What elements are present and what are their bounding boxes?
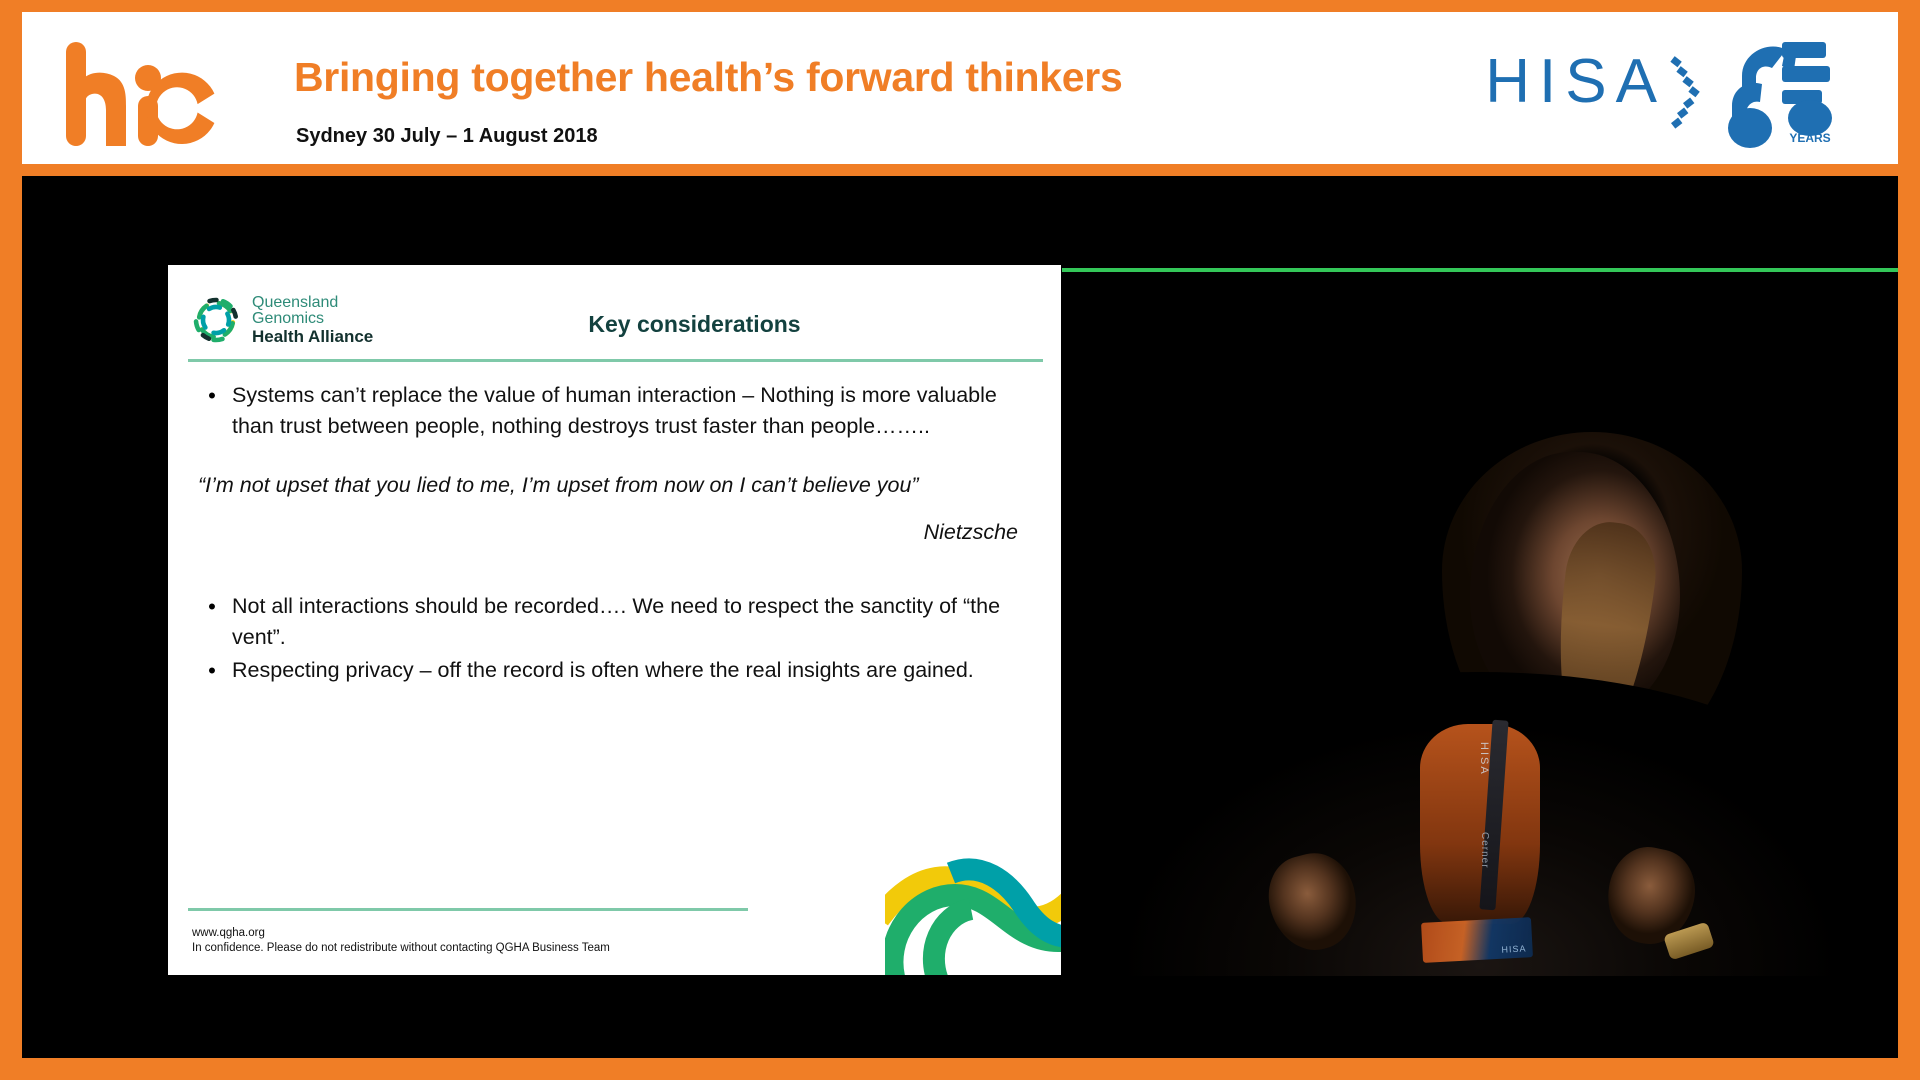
interlocking-ribbons-decoration	[885, 833, 1061, 975]
stage-area: Queensland Genomics Health Alliance Key …	[22, 176, 1898, 1058]
quote-attribution: Nietzsche	[192, 520, 1032, 545]
bullet-glyph: •	[192, 655, 232, 686]
bullet-item: • Respecting privacy – off the record is…	[192, 655, 1032, 686]
chevron-right-dotted-icon	[1668, 56, 1708, 134]
bullet-text: Systems can’t replace the value of human…	[232, 380, 1032, 442]
badge-text: HISA	[1501, 943, 1527, 954]
lanyard-brand-text: HISA	[1478, 742, 1490, 776]
footer-url: www.qgha.org	[192, 926, 610, 942]
slide-divider-bottom	[188, 908, 748, 911]
hisa-wordmark: HISA	[1485, 46, 1666, 117]
bullet-glyph: •	[192, 591, 232, 622]
hic-logo-icon	[60, 34, 235, 154]
qgha-line-1: Queensland	[252, 295, 373, 311]
bullet-item: • Systems can’t replace the value of hum…	[192, 380, 1032, 442]
quote-text: “I’m not upset that you lied to me, I’m …	[192, 470, 1032, 501]
presentation-screen: Bringing together health’s forward think…	[0, 0, 1920, 1080]
bullet-item: • Not all interactions should be recorde…	[192, 591, 1032, 653]
slide-body: • Systems can’t replace the value of hum…	[192, 380, 1032, 688]
video-frame: HISA Cerner HISA	[1062, 272, 1898, 976]
banner-title: Bringing together health’s forward think…	[294, 54, 1122, 101]
lanyard-sponsor-text: Cerner	[1479, 832, 1490, 869]
speaker-badge: HISA	[1421, 917, 1533, 963]
bullet-text: Respecting privacy – off the record is o…	[232, 655, 1032, 686]
banner-subtitle: Sydney 30 July – 1 August 2018	[296, 125, 598, 148]
footer-notice: In confidence. Please do not redistribut…	[192, 941, 610, 957]
presentation-slide: Queensland Genomics Health Alliance Key …	[168, 265, 1061, 975]
bullet-glyph: •	[192, 380, 232, 411]
hisa-years-label: YEARS	[1789, 131, 1830, 145]
event-banner: Bringing together health’s forward think…	[22, 12, 1898, 164]
bullet-list-lower: • Not all interactions should be recorde…	[192, 591, 1032, 686]
hisa-25-years-badge-icon: YEARS	[1724, 36, 1840, 148]
bullet-text: Not all interactions should be recorded……	[232, 591, 1032, 653]
slide-title: Key considerations	[168, 311, 1061, 338]
slide-divider-top	[188, 359, 1043, 362]
slide-footer: www.qgha.org In confidence. Please do no…	[192, 926, 610, 957]
speaker-video-feed[interactable]: HISA Cerner HISA	[1062, 268, 1898, 976]
